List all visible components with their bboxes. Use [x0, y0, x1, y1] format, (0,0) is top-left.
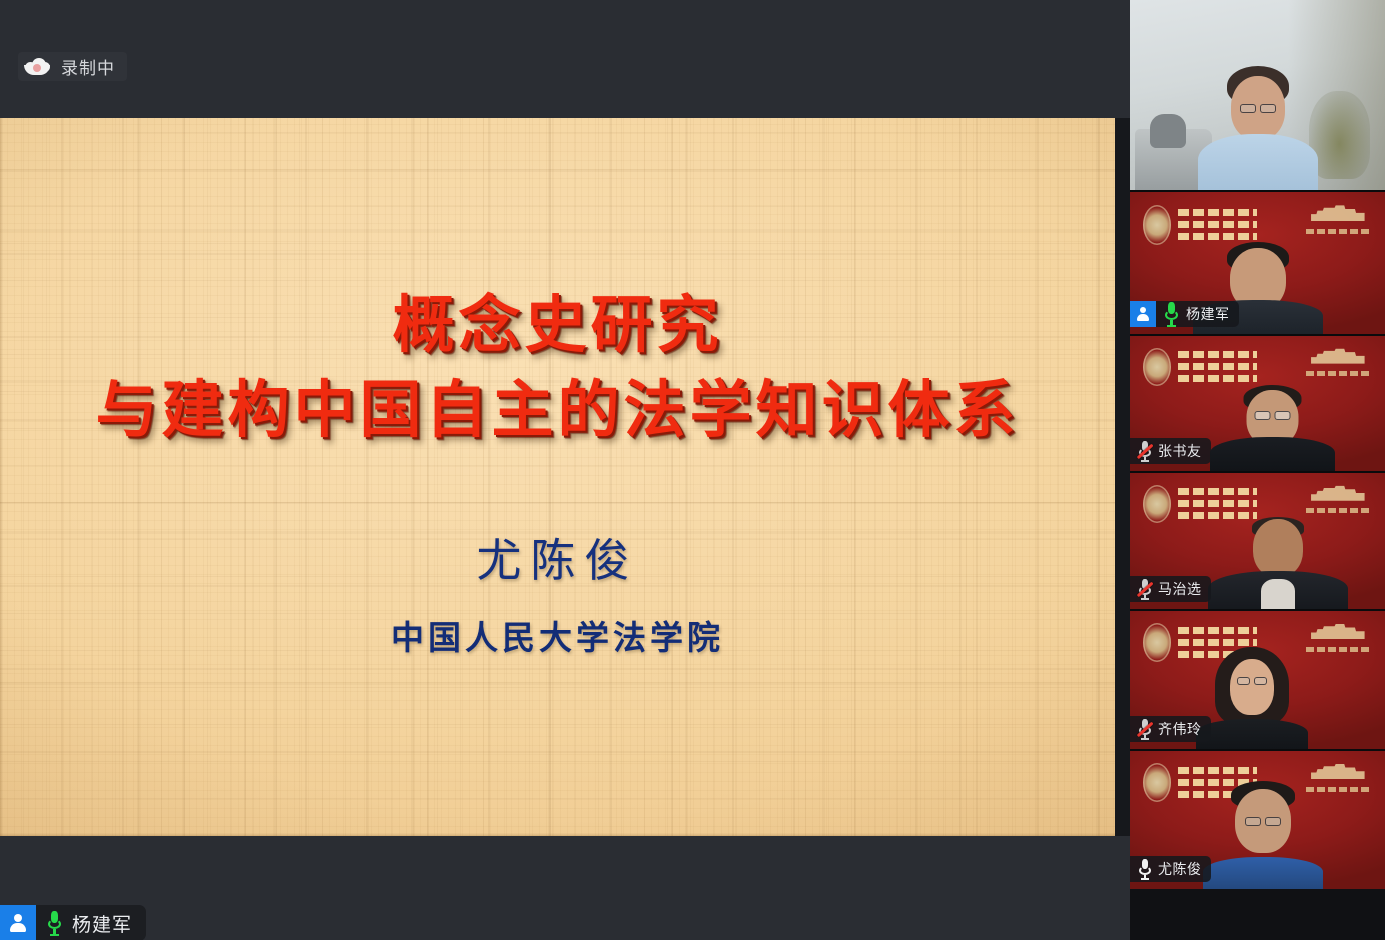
participant-tile-qiweiling[interactable]: 齐伟玲: [1130, 611, 1385, 749]
cloud-recording-icon: [24, 58, 50, 75]
slide-author: 尤陈俊: [476, 524, 638, 589]
active-speaker-name: 杨建军: [72, 910, 132, 937]
banner-building-logo: [1306, 205, 1370, 236]
mic-on-icon[interactable]: [1137, 859, 1152, 880]
active-speaker-pill[interactable]: 杨建军: [0, 905, 146, 940]
banner-building-logo: [1306, 623, 1370, 653]
banner-title-text: [1178, 487, 1257, 520]
slide-title-line-1: 概念史研究: [0, 288, 1115, 361]
slide-edge-strip: [1115, 118, 1130, 836]
university-seal-icon: [1143, 485, 1171, 523]
host-person-icon: [1130, 301, 1156, 327]
participant-name: 杨建军: [1186, 304, 1230, 324]
participant-video-strip[interactable]: 杨建军: [1130, 0, 1385, 940]
tile-1-person: [1198, 62, 1318, 190]
slide-title-block: 概念史研究 与建构中国自主的法学知识体系: [0, 288, 1115, 446]
tile-5-person: [1196, 645, 1308, 749]
university-seal-icon: [1143, 348, 1171, 386]
participant-name: 马治选: [1158, 579, 1202, 599]
participant-name: 齐伟玲: [1158, 719, 1202, 739]
participant-tile-mazhixuan[interactable]: 马治选: [1130, 473, 1385, 609]
tile-4-person: [1208, 517, 1348, 609]
mic-on-icon[interactable]: [46, 911, 63, 935]
host-person-icon: [0, 905, 36, 940]
tile-3-person: [1210, 385, 1335, 471]
university-seal-icon: [1143, 205, 1171, 245]
participant-tile-1[interactable]: [1130, 0, 1385, 190]
tile-name-pill-yangjianjun[interactable]: 杨建军: [1130, 301, 1239, 327]
participant-tile-youchenjun[interactable]: 尤陈俊: [1130, 751, 1385, 889]
tile-name-pill-zhangshuyou[interactable]: 张书友: [1130, 438, 1211, 464]
tile-6-person: [1203, 781, 1323, 889]
tile-name-pill-qiweiling[interactable]: 齐伟玲: [1130, 716, 1211, 742]
shared-screen-stage: 录制中 概念史研究 与建构中国自主的法学知识体系 尤陈俊 中国人民大学法学院: [0, 0, 1130, 940]
university-seal-icon: [1143, 763, 1171, 802]
recording-indicator[interactable]: 录制中: [18, 52, 127, 81]
banner-title-text: [1178, 206, 1257, 240]
university-seal-icon: [1143, 623, 1171, 662]
slide-title-line-2: 与建构中国自主的法学知识体系: [0, 373, 1115, 446]
recording-bar: 录制中: [0, 0, 1130, 118]
mic-on-icon[interactable]: [1163, 302, 1180, 326]
presentation-slide[interactable]: 概念史研究 与建构中国自主的法学知识体系 尤陈俊 中国人民大学法学院: [0, 118, 1115, 836]
participant-name: 张书友: [1158, 441, 1202, 461]
mic-muted-icon[interactable]: [1137, 719, 1152, 740]
zoom-meeting-window: 录制中 概念史研究 与建构中国自主的法学知识体系 尤陈俊 中国人民大学法学院: [0, 0, 1385, 940]
stage-bottom-bar: 杨建军: [0, 836, 1130, 940]
mic-muted-icon[interactable]: [1137, 441, 1152, 462]
participant-name: 尤陈俊: [1158, 859, 1202, 879]
tile-name-pill-mazhixuan[interactable]: 马治选: [1130, 576, 1211, 602]
banner-building-logo: [1306, 485, 1370, 515]
banner-building-logo: [1306, 348, 1370, 378]
participant-tile-yangjianjun[interactable]: 杨建军: [1130, 192, 1385, 334]
tile-name-pill-youchenjun[interactable]: 尤陈俊: [1130, 856, 1211, 882]
banner-title-text: [1178, 350, 1257, 382]
mic-muted-icon[interactable]: [1137, 579, 1152, 600]
slide-affiliation: 中国人民大学法学院: [391, 611, 724, 659]
recording-label: 录制中: [61, 54, 115, 79]
participant-tile-zhangshuyou[interactable]: 张书友: [1130, 336, 1385, 471]
